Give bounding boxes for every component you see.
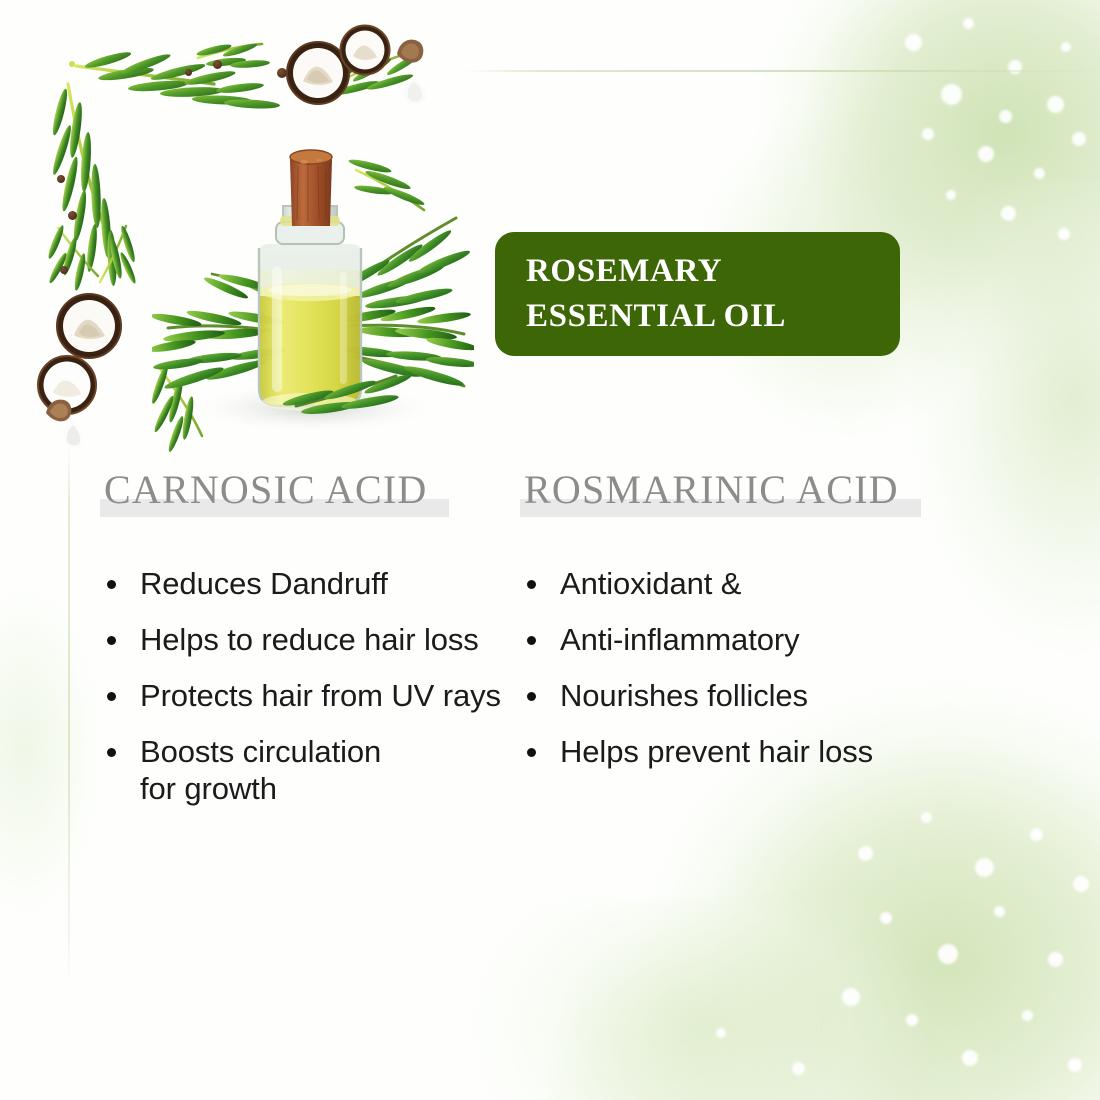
peppercorn-icon [68,211,77,220]
badge-title-line-1: ROSEMARY [526,249,900,294]
badge-title-line-2: ESSENTIAL OIL [526,294,900,339]
list-item: Nourishes follicles [520,677,1100,714]
list-item: Helps prevent hair loss [520,733,1100,770]
list-item-text: Boosts circulation [140,734,381,769]
list-item: Protects hair from UV rays [100,677,510,714]
title-badge: ROSEMARY ESSENTIAL OIL [495,232,900,356]
list-item: Anti-inflammatory [520,621,1100,658]
list-item-text: Reduces Dandruff [140,566,388,601]
benefits-list-rosmarinic-acid: Antioxidant & Anti-inflammatory Nourishe… [520,565,1100,770]
peppercorn-icon [57,175,65,183]
list-item: Helps to reduce hair loss [100,621,510,658]
peppercorn-icon [213,60,222,69]
list-item-text: Protects hair from UV rays [140,678,501,713]
coconut-half-icon [339,24,391,76]
peppercorn-icon [60,266,68,274]
column-carnosic-acid: CARNOSIC ACID Reduces Dandruff Helps to … [0,466,510,826]
list-item-text: Anti-inflammatory [560,622,799,657]
list-item-text: Nourishes follicles [560,678,808,713]
section-heading-carnosic-acid: CARNOSIC ACID [100,466,431,519]
coconut-flesh-shard-icon [60,418,88,452]
coconut-flesh-shard-icon [400,76,430,108]
list-item: Boosts circulation for growth [100,733,510,807]
horizontal-divider-line [462,70,1100,72]
list-item: Reduces Dandruff [100,565,510,602]
benefits-columns: CARNOSIC ACID Reduces Dandruff Helps to … [0,466,1100,826]
section-heading-rosmarinic-acid: ROSMARINIC ACID [520,466,903,519]
watercolor-wash-top-right [640,0,1100,440]
coconut-half-icon [55,292,123,360]
column-rosmarinic-acid: ROSMARINIC ACID Antioxidant & Anti-infla… [510,466,1100,826]
list-item-text: Helps prevent hair loss [560,734,873,769]
watercolor-wash-bottom [420,900,980,1100]
list-item-text-line2: for growth [140,770,510,807]
list-item: Antioxidant & [520,565,1100,602]
coconut-shell-chip-icon [393,36,427,66]
benefits-list-carnosic-acid: Reduces Dandruff Helps to reduce hair lo… [100,565,510,807]
list-item-text: Helps to reduce hair loss [140,622,479,657]
list-item-text: Antioxidant & [560,566,741,601]
peppercorn-icon [185,69,192,76]
infographic-poster: ROSEMARY ESSENTIAL OIL CARNOSIC ACID Red… [0,0,1100,1100]
product-photo-rosemary-oil-bottle [152,140,474,458]
